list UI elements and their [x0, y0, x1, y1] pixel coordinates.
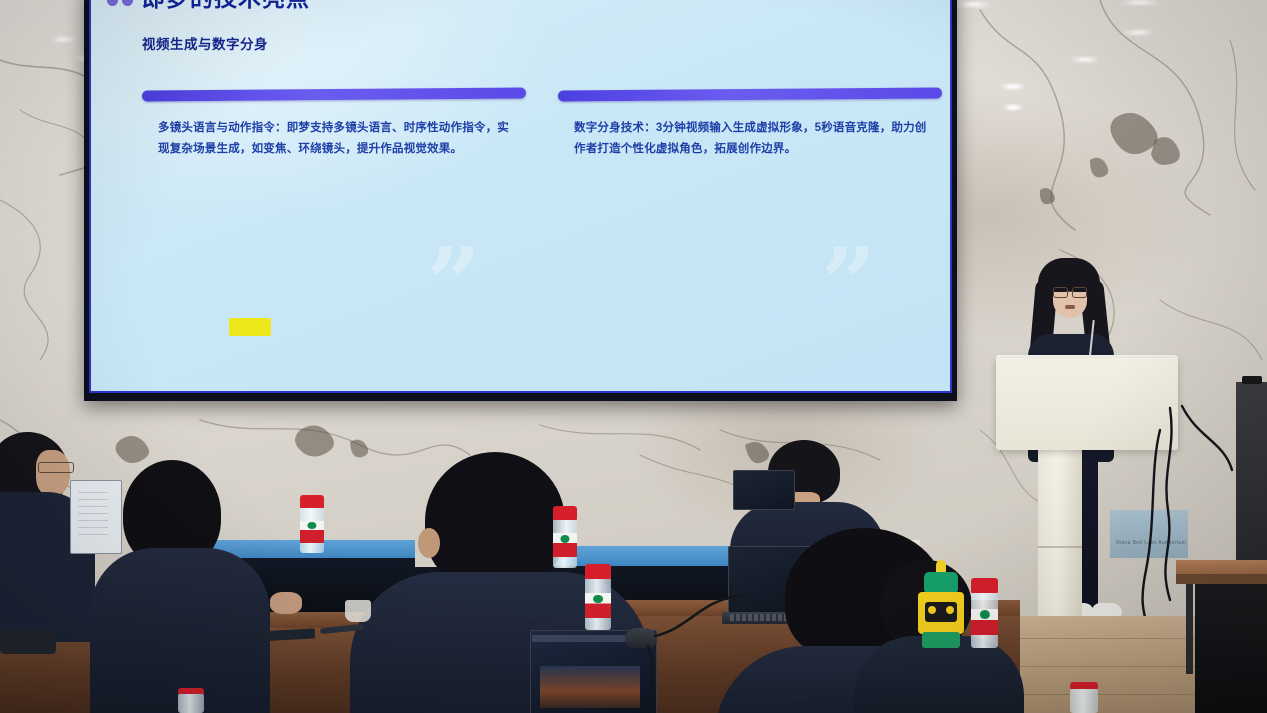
attendee-ear	[418, 528, 440, 558]
slide-content: ” ” 即梦的技术亮点 视频生成与数字分身 多镜头语言与动作指令：即梦支持多镜头…	[91, 0, 950, 391]
card-body-text: 数字分身技术：3分钟视频输入生成虚拟形象，5秒语音克隆，助力创作者打造个性化虚拟…	[558, 118, 942, 160]
projection-screen[interactable]: ” ” 即梦的技术亮点 视频生成与数字分身 多镜头语言与动作指令：即梦支持多镜头…	[84, 0, 957, 401]
card-left: 多镜头语言与动作指令：即梦支持多镜头语言、时序性动作指令，实现复杂场景生成，如变…	[142, 89, 526, 160]
card-accent-bar	[558, 87, 942, 101]
laptop-screen[interactable]	[733, 470, 795, 510]
toy-robot-eye	[928, 606, 936, 614]
screenshot-root: ” ” 即梦的技术亮点 视频生成与数字分身 多镜头语言与动作指令：即梦支持多镜头…	[0, 0, 1267, 713]
side-desk-leg	[1186, 584, 1193, 674]
side-desk-apron	[1176, 574, 1267, 584]
water-bottle[interactable]	[1070, 682, 1098, 713]
dark-shadow-region	[1195, 584, 1267, 713]
ceiling-light-reflection	[1002, 105, 1024, 110]
water-bottle[interactable]	[585, 564, 611, 630]
card-accent-bar	[142, 87, 526, 101]
water-bottle[interactable]	[178, 688, 204, 713]
water-bottle[interactable]	[300, 495, 324, 553]
quote-mark-icon	[107, 0, 133, 6]
ceiling-light-reflection	[1120, 0, 1160, 5]
toy-robot-eye	[946, 606, 954, 614]
slide-subtitle: 视频生成与数字分身	[142, 33, 268, 53]
ceiling-light-reflection	[1000, 84, 1026, 89]
card-body-text: 多镜头语言与动作指令：即梦支持多镜头语言、时序性动作指令，实现复杂场景生成，如变…	[142, 118, 526, 160]
ceiling-light-reflection	[1070, 57, 1100, 62]
laptop-screen-image	[540, 666, 640, 708]
water-bottle[interactable]	[553, 506, 577, 568]
toy-robot-head	[924, 572, 958, 594]
desk-item-cup	[345, 600, 371, 622]
card-list: 多镜头语言与动作指令：即梦支持多镜头语言、时序性动作指令，实现复杂场景生成，如变…	[142, 89, 942, 160]
toy-robot[interactable]	[918, 560, 964, 648]
side-desk	[1176, 560, 1267, 574]
glasses-icon	[38, 462, 74, 473]
ceiling-light-reflection	[955, 2, 991, 7]
desk-item-phone[interactable]	[0, 630, 56, 654]
card-right: 数字分身技术：3分钟视频输入生成虚拟形象，5秒语音克隆，助力创作者打造个性化虚拟…	[558, 89, 942, 160]
ceiling-light-reflection	[50, 37, 76, 42]
attendee-2-hand	[270, 592, 302, 614]
attendee-2	[95, 460, 270, 713]
podium[interactable]	[996, 358, 1178, 450]
page-title: 即梦的技术亮点	[142, 0, 310, 13]
water-bottle[interactable]	[971, 578, 998, 648]
quote-watermark-right: ”	[821, 236, 870, 332]
slide-title-row: 即梦的技术亮点	[107, 0, 310, 13]
ceiling-light-reflection	[1122, 30, 1154, 35]
podium-column	[1038, 448, 1082, 644]
attendee-face	[36, 450, 70, 496]
yellow-highlight-box	[229, 318, 271, 336]
attendee-head	[425, 452, 565, 590]
glasses-icon	[1053, 287, 1087, 296]
quote-watermark-left: ”	[426, 236, 475, 332]
computer-mouse[interactable]	[625, 628, 657, 648]
toy-robot-legs	[922, 632, 960, 648]
presenter-mouth	[1065, 305, 1075, 309]
